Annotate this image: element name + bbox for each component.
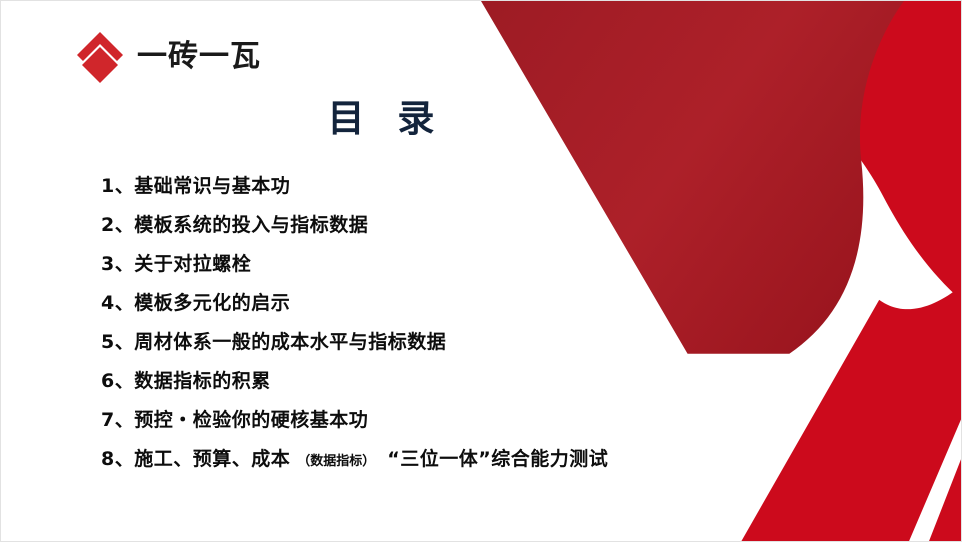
list-item-label: 模板多元化的启示 [134,284,290,323]
list-item-label: 关于对拉螺栓 [134,245,251,284]
list-item[interactable]: 5、 周材体系一般的成本水平与指标数据 [101,323,861,362]
list-item-number: 7、 [101,401,134,440]
list-item[interactable]: 3、 关于对拉螺栓 [101,245,861,284]
list-item-tail: “三位一体”综合能力测试 [375,440,608,479]
list-item-label: 施工、预算、成本 [134,440,290,479]
list-item[interactable]: 7、 预控・检验你的硬核基本功 [101,401,861,440]
table-of-contents: 1、 基础常识与基本功 2、 模板系统的投入与指标数据 3、 关于对拉螺栓 4、… [101,167,861,479]
diamond-chevron-logo-icon [73,30,127,84]
list-item[interactable]: 2、 模板系统的投入与指标数据 [101,206,861,245]
list-item[interactable]: 6、 数据指标的积累 [101,362,861,401]
list-item-number: 3、 [101,245,134,284]
list-item[interactable]: 8、 施工、预算、成本 （数据指标） “三位一体”综合能力测试 [101,440,861,479]
ribbon-bright-corner [929,459,961,541]
list-item-label: 周材体系一般的成本水平与指标数据 [134,323,446,362]
list-item-number: 1、 [101,167,134,206]
list-item-label: 模板系统的投入与指标数据 [134,206,368,245]
list-item[interactable]: 4、 模板多元化的启示 [101,284,861,323]
slide-canvas: 一砖一瓦 目 录 1、 基础常识与基本功 2、 模板系统的投入与指标数据 3、 … [0,0,962,542]
brand-name: 一砖一瓦 [137,42,261,72]
list-item-label: 数据指标的积累 [134,362,271,401]
list-item-note: （数据指标） [290,442,375,481]
list-item[interactable]: 1、 基础常识与基本功 [101,167,861,206]
page-title: 目 录 [1,99,761,140]
list-item-number: 2、 [101,206,134,245]
list-item-label: 预控・检验你的硬核基本功 [134,401,368,440]
list-item-number: 5、 [101,323,134,362]
list-item-number: 4、 [101,284,134,323]
list-item-number: 6、 [101,362,134,401]
brand-logo-block: 一砖一瓦 [73,29,261,85]
list-item-number: 8、 [101,440,134,479]
list-item-label: 基础常识与基本功 [134,167,290,206]
